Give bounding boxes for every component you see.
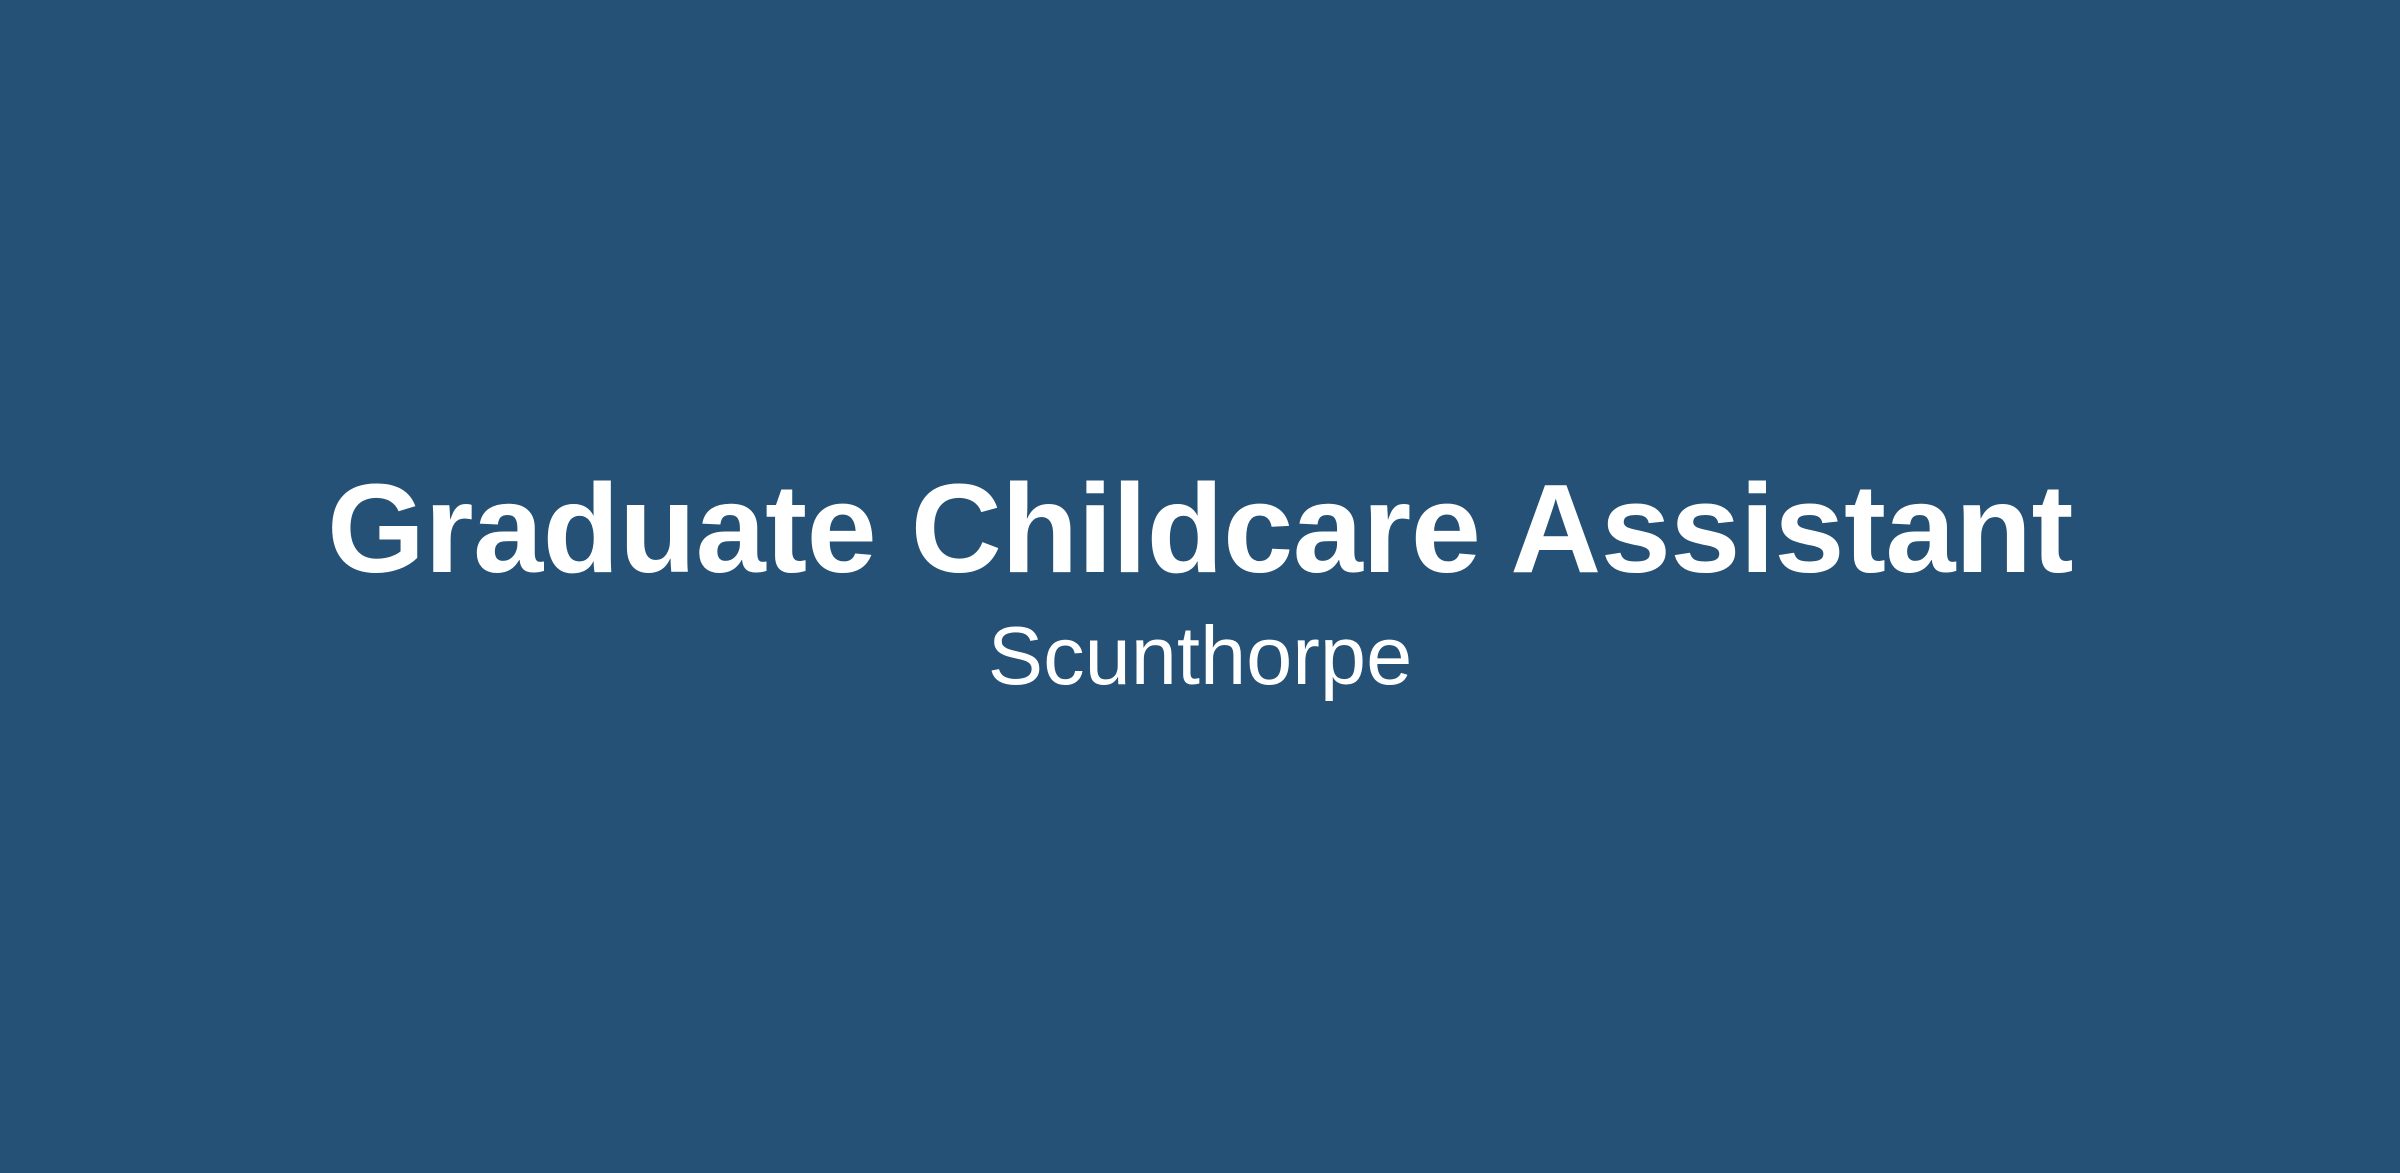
job-card: Graduate Childcare Assistant Scunthorpe bbox=[0, 0, 2400, 1173]
job-location: Scunthorpe bbox=[988, 610, 1413, 701]
job-title: Graduate Childcare Assistant bbox=[327, 462, 2073, 596]
job-card-content: Graduate Childcare Assistant Scunthorpe bbox=[0, 462, 2400, 701]
